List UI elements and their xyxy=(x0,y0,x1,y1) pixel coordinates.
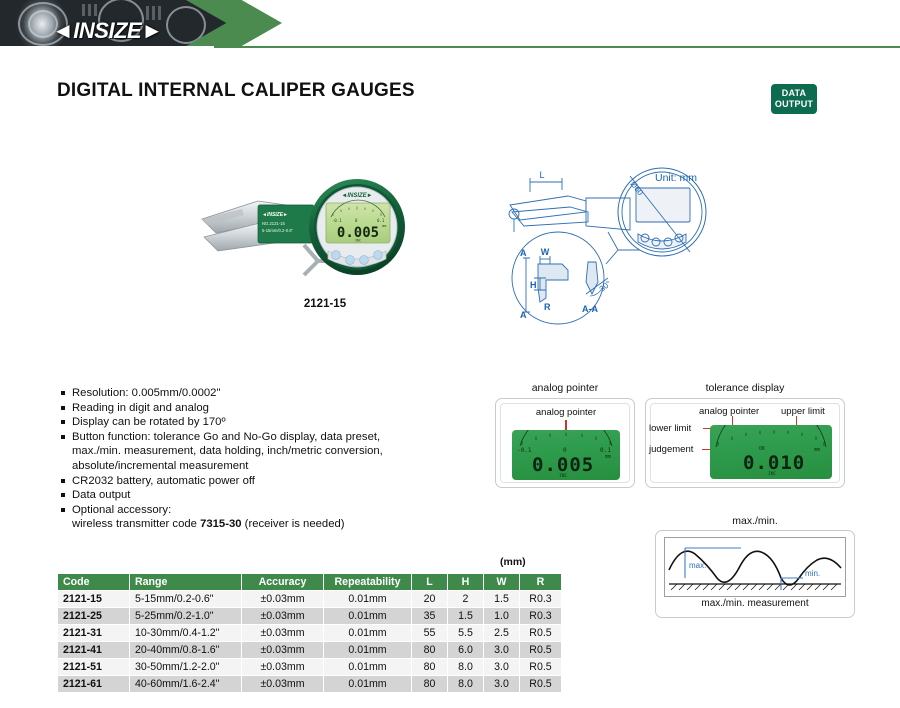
feature-item: Resolution: 0.005mm/0.0002" xyxy=(60,386,460,400)
drawing-label-A-bottom: A xyxy=(520,310,527,320)
tolerance-lcd-screen: OK mm 0.010 INC xyxy=(710,425,832,479)
cell-repeatability: 0.01mm xyxy=(324,659,412,676)
feature-text: CR2032 battery, automatic power off xyxy=(72,475,255,487)
column-header-r: R xyxy=(520,574,562,591)
analog-lcd-screen: -0.1 0 0.1 mm 0.005 INC xyxy=(512,430,620,480)
specification-table: Code Range Accuracy Repeatability L H W … xyxy=(57,573,562,693)
tolerance-label-judgement: judgement xyxy=(649,444,693,455)
logo-right-arrow-icon: ► xyxy=(141,18,162,43)
cell-range: 10-30mm/0.4-1.2" xyxy=(130,625,242,642)
feature-item: Button function: tolerance Go and No-Go … xyxy=(60,430,460,444)
column-header-l: L xyxy=(412,574,448,591)
cell-l: 80 xyxy=(412,659,448,676)
column-header-repeatability: Repeatability xyxy=(324,574,412,591)
feature-text: Resolution: 0.005mm/0.0002" xyxy=(72,387,220,399)
cell-w: 1.0 xyxy=(484,608,520,625)
column-header-w: W xyxy=(484,574,520,591)
drawing-section-label: A-A xyxy=(582,304,598,314)
analog-pointer-panel: analog pointer -0.1 0 0.1 mm 0.005 INC xyxy=(495,398,635,488)
cell-l: 35 xyxy=(412,608,448,625)
table-row: 2121-31 10-30mm/0.4-1.2" ±0.03mm 0.01mm … xyxy=(58,625,562,642)
drawing-label-W: W xyxy=(541,247,550,257)
badge-line-1: DATA xyxy=(771,88,817,99)
feature-text: absolute/incremental measurement xyxy=(72,460,248,472)
table-row: 2121-41 20-40mm/0.8-1.6" ±0.03mm 0.01mm … xyxy=(58,642,562,659)
analog-scale-left: -0.1 xyxy=(517,447,531,454)
cell-range: 5-25mm/0.2-1.0" xyxy=(130,608,242,625)
logo-wordmark: INSIZE xyxy=(73,18,141,43)
product-caption: 2121-15 xyxy=(200,298,450,310)
cell-w: 1.5 xyxy=(484,591,520,608)
column-header-h: H xyxy=(448,574,484,591)
feature-item-accessory: wireless transmitter code 7315-30 (recei… xyxy=(60,517,460,531)
cell-r: R0.5 xyxy=(520,642,562,659)
product-photo: ◄INSIZE► NO.2121-15 5-15mm/0.2-0.6" ◄INS… xyxy=(200,175,450,290)
column-header-range: Range xyxy=(130,574,242,591)
accessory-suffix: (receiver is needed) xyxy=(242,518,345,530)
feature-item: Display can be rotated by 170º xyxy=(60,415,460,429)
tolerance-label-lower-limit: lower limit xyxy=(649,423,691,434)
drawing-label-H: H xyxy=(530,280,537,290)
tolerance-lcd-value: 0.010 xyxy=(743,452,805,474)
feature-item: CR2032 battery, automatic power off xyxy=(60,474,460,488)
maxmin-panel-title: max./min. xyxy=(655,515,855,527)
accessory-prefix: wireless transmitter code xyxy=(72,518,200,530)
column-header-accuracy: Accuracy xyxy=(242,574,324,591)
data-output-badge: DATA OUTPUT xyxy=(771,84,817,114)
column-header-code: Code xyxy=(58,574,130,591)
cell-accuracy: ±0.03mm xyxy=(242,608,324,625)
product-body-brand: ◄INSIZE► xyxy=(262,212,288,218)
tolerance-display-panel: analog pointer upper limit lower limit j… xyxy=(645,398,845,488)
feature-text: Button function: tolerance Go and No-Go … xyxy=(72,431,380,443)
table-row: 2121-51 30-50mm/1.2-2.0" ±0.03mm 0.01mm … xyxy=(58,659,562,676)
feature-text: Reading in digit and analog xyxy=(72,402,209,414)
cell-l: 80 xyxy=(412,642,448,659)
cell-l: 55 xyxy=(412,625,448,642)
cell-code: 2121-41 xyxy=(58,642,130,659)
cell-l: 20 xyxy=(412,591,448,608)
cell-w: 3.0 xyxy=(484,659,520,676)
feature-item: Optional accessory: xyxy=(60,503,460,517)
logo-left-arrow-icon: ◄ xyxy=(52,18,73,43)
page-title: DIGITAL INTERNAL CALIPER GAUGES xyxy=(57,80,415,102)
maxmin-diagram: max. min. xyxy=(664,537,846,597)
table-row: 2121-15 5-15mm/0.2-0.6" ±0.03mm 0.01mm 2… xyxy=(58,591,562,608)
cell-accuracy: ±0.03mm xyxy=(242,625,324,642)
badge-line-2: OUTPUT xyxy=(771,99,817,110)
cell-r: R0.3 xyxy=(520,591,562,608)
analog-pointer-marker xyxy=(565,420,567,430)
cell-r: R0.5 xyxy=(520,625,562,642)
analog-lcd-value: 0.005 xyxy=(532,454,594,476)
tolerance-panel-title: tolerance display xyxy=(645,382,845,394)
tolerance-label-upper-limit: upper limit xyxy=(781,406,825,417)
cell-h: 1.5 xyxy=(448,608,484,625)
cell-code: 2121-25 xyxy=(58,608,130,625)
svg-text:0.1: 0.1 xyxy=(377,218,385,223)
analog-unit-mark: mm xyxy=(605,454,611,460)
feature-item: Reading in digit and analog xyxy=(60,401,460,415)
page-header-banner: ◄INSIZE► xyxy=(0,0,900,52)
dial-button-1 xyxy=(332,251,341,260)
cell-code: 2121-31 xyxy=(58,625,130,642)
feature-item-continuation: max./min. measurement, data holding, inc… xyxy=(60,444,460,458)
header-divider-rule xyxy=(214,46,900,48)
cell-w: 3.0 xyxy=(484,676,520,693)
maxmin-label-min: min. xyxy=(805,569,820,578)
svg-text:INC: INC xyxy=(355,239,361,243)
cell-code: 2121-15 xyxy=(58,591,130,608)
dial-button-3 xyxy=(360,256,369,265)
cell-repeatability: 0.01mm xyxy=(324,591,412,608)
drawing-label-R: R xyxy=(544,302,551,312)
cell-code: 2121-51 xyxy=(58,659,130,676)
cell-w: 2.5 xyxy=(484,625,520,642)
cell-accuracy: ±0.03mm xyxy=(242,676,324,693)
cell-r: R0.5 xyxy=(520,659,562,676)
svg-text:mm: mm xyxy=(382,224,386,228)
dial-brand-text: ◄INSIZE► xyxy=(341,193,372,199)
analog-mode-mark: INC xyxy=(559,474,567,479)
table-row: 2121-61 40-60mm/1.6-2.4" ±0.03mm 0.01mm … xyxy=(58,676,562,693)
dial-button-2 xyxy=(346,256,355,265)
cell-w: 3.0 xyxy=(484,642,520,659)
feature-text: Optional accessory: xyxy=(72,504,171,516)
product-body-code: NO.2121-15 xyxy=(262,221,285,226)
technical-drawing: L W H R A A A-A 30° Ø60 xyxy=(490,160,725,325)
cell-l: 80 xyxy=(412,676,448,693)
table-unit-note: (mm) xyxy=(500,556,526,568)
svg-text:-0.1: -0.1 xyxy=(332,218,342,223)
cell-repeatability: 0.01mm xyxy=(324,676,412,693)
table-header-row: Code Range Accuracy Repeatability L H W … xyxy=(58,574,562,591)
feature-text: Display can be rotated by 170º xyxy=(72,416,226,428)
cell-range: 5-15mm/0.2-0.6" xyxy=(130,591,242,608)
cell-r: R0.3 xyxy=(520,608,562,625)
accessory-code: 7315-30 xyxy=(200,518,241,530)
cell-accuracy: ±0.03mm xyxy=(242,659,324,676)
cell-r: R0.5 xyxy=(520,676,562,693)
analog-scale-center: 0 xyxy=(563,447,567,454)
drawing-label-L: L xyxy=(539,170,544,180)
cell-repeatability: 0.01mm xyxy=(324,608,412,625)
feature-list: Resolution: 0.005mm/0.0002" Reading in d… xyxy=(60,386,460,532)
analog-panel-title: analog pointer xyxy=(495,382,635,394)
table-row: 2121-25 5-25mm/0.2-1.0" ±0.03mm 0.01mm 3… xyxy=(58,608,562,625)
cell-range: 40-60mm/1.6-2.4" xyxy=(130,676,242,693)
cell-accuracy: ±0.03mm xyxy=(242,642,324,659)
cell-h: 8.0 xyxy=(448,676,484,693)
tolerance-label-analog-pointer: analog pointer xyxy=(699,406,759,417)
feature-text: max./min. measurement, data holding, inc… xyxy=(72,445,383,457)
cell-repeatability: 0.01mm xyxy=(324,625,412,642)
cell-repeatability: 0.01mm xyxy=(324,642,412,659)
analog-panel-inner-title: analog pointer xyxy=(518,407,614,418)
feature-text: Data output xyxy=(72,489,130,501)
maxmin-caption: max./min. measurement xyxy=(655,598,855,609)
feature-item-continuation: absolute/incremental measurement xyxy=(60,459,460,473)
insize-logo: ◄INSIZE► xyxy=(52,18,162,44)
analog-scale-right: 0.1 xyxy=(600,447,611,454)
drawing-label-A-top: A xyxy=(520,248,527,258)
cell-h: 8.0 xyxy=(448,659,484,676)
tolerance-unit-mark: mm xyxy=(814,447,820,453)
cell-h: 6.0 xyxy=(448,642,484,659)
cell-h: 2 xyxy=(448,591,484,608)
maxmin-label-max: max. xyxy=(689,561,706,570)
cell-h: 5.5 xyxy=(448,625,484,642)
product-body-range: 5-15mm/0.2-0.6" xyxy=(262,228,294,233)
tolerance-mode-mark: INC xyxy=(768,472,776,477)
cell-code: 2121-61 xyxy=(58,676,130,693)
cell-accuracy: ±0.03mm xyxy=(242,591,324,608)
cell-range: 20-40mm/0.8-1.6" xyxy=(130,642,242,659)
dial-button-4 xyxy=(374,251,383,260)
cell-range: 30-50mm/1.2-2.0" xyxy=(130,659,242,676)
feature-item: Data output xyxy=(60,488,460,502)
